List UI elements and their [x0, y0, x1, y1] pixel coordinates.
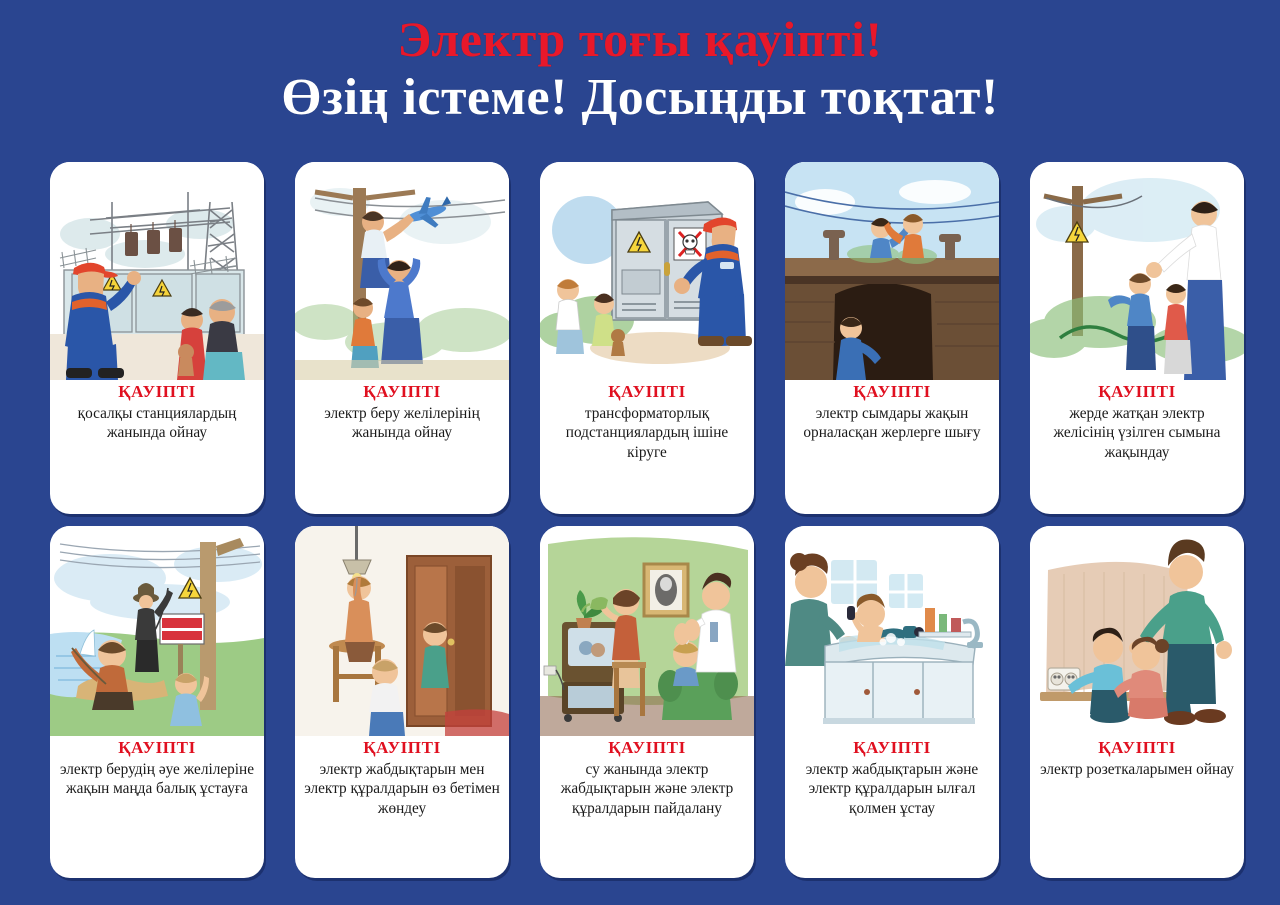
danger-card-fishing-near-lines: ҚАУІПТІ электр берудің әуе желілеріне жа…: [50, 526, 264, 878]
danger-card-grid: ҚАУІПТІ қосалқы станциялардың жанында ой…: [50, 162, 1240, 878]
danger-label: ҚАУІПТІ: [1038, 382, 1236, 402]
poster-title-sub: Өзің істеме! Досыңды тоқтат!: [0, 71, 1280, 124]
card-text: ҚАУІПТІ электр сымдары жақын орналасқан …: [785, 380, 999, 514]
illustration-wet-hands-appliances: [785, 526, 999, 736]
danger-label: ҚАУІПТІ: [303, 382, 501, 402]
illustration-self-repair-equipment: [295, 526, 509, 736]
card-text: ҚАУІПТІ электр берудің әуе желілеріне жа…: [50, 736, 264, 878]
danger-label: ҚАУІПТІ: [58, 738, 256, 758]
safety-poster: Электр тоғы қауіпті! Өзің істеме! Досыңд…: [0, 0, 1280, 905]
danger-label: ҚАУІПТІ: [548, 738, 746, 758]
danger-card-transformer-entry: ҚАУІПТІ трансформаторлық подстанцияларды…: [540, 162, 754, 514]
illustration-power-line-play: [295, 162, 509, 380]
danger-description: трансформаторлық подстанциялардың ішіне …: [548, 404, 746, 462]
danger-description: электр розеткаларымен ойнау: [1038, 760, 1236, 779]
card-text: ҚАУІПТІ электр жабдықтарын және электр қ…: [785, 736, 999, 878]
danger-card-self-repair-equipment: ҚАУІПТІ электр жабдықтарын мен электр құ…: [295, 526, 509, 878]
illustration-socket-play: [1030, 526, 1244, 736]
danger-label: ҚАУІПТІ: [793, 382, 991, 402]
danger-label: ҚАУІПТІ: [1038, 738, 1236, 758]
danger-description: электр жабдықтарын және электр құралдары…: [793, 760, 991, 818]
danger-label: ҚАУІПТІ: [548, 382, 746, 402]
danger-card-wet-hands-appliances: ҚАУІПТІ электр жабдықтарын және электр қ…: [785, 526, 999, 878]
danger-description: электр беру желілерінің жанында ойнау: [303, 404, 501, 443]
card-text: ҚАУІПТІ электр розеткаларымен ойнау: [1030, 736, 1244, 878]
danger-description: қосалқы станциялардың жанында ойнау: [58, 404, 256, 443]
card-text: ҚАУІПТІ электр беру желілерінің жанында …: [295, 380, 509, 514]
danger-card-appliances-near-water: ҚАУІПТІ су жанында электр жабдықтарын жә…: [540, 526, 754, 878]
danger-card-socket-play: ҚАУІПТІ электр розеткаларымен ойнау: [1030, 526, 1244, 878]
card-text: ҚАУІПТІ трансформаторлық подстанцияларды…: [540, 380, 754, 514]
danger-description: су жанында электр жабдықтарын және элект…: [548, 760, 746, 818]
danger-label: ҚАУІПТІ: [303, 738, 501, 758]
card-text: ҚАУІПТІ жерде жатқан электр желісінің үз…: [1030, 380, 1244, 514]
illustration-substation-play: [50, 162, 264, 380]
danger-label: ҚАУІПТІ: [793, 738, 991, 758]
illustration-fallen-wire-approach: [1030, 162, 1244, 380]
poster-heading: Электр тоғы қауіпті! Өзің істеме! Досыңд…: [0, 0, 1280, 124]
danger-description: электр сымдары жақын орналасқан жерлерге…: [793, 404, 991, 443]
illustration-appliances-near-water: [540, 526, 754, 736]
poster-title-main: Электр тоғы қауіпті!: [0, 14, 1280, 65]
danger-card-substation-play: ҚАУІПТІ қосалқы станциялардың жанында ой…: [50, 162, 264, 514]
card-text: ҚАУІПТІ су жанында электр жабдықтарын жә…: [540, 736, 754, 878]
danger-description: жерде жатқан электр желісінің үзілген сы…: [1038, 404, 1236, 462]
danger-card-rooftop-near-wires: ҚАУІПТІ электр сымдары жақын орналасқан …: [785, 162, 999, 514]
danger-description: электр жабдықтарын мен электр құралдарын…: [303, 760, 501, 818]
danger-description: электр берудің әуе желілеріне жақын маңд…: [58, 760, 256, 799]
card-text: ҚАУІПТІ қосалқы станциялардың жанында ой…: [50, 380, 264, 514]
illustration-transformer-entry: [540, 162, 754, 380]
danger-card-fallen-wire-approach: ҚАУІПТІ жерде жатқан электр желісінің үз…: [1030, 162, 1244, 514]
danger-label: ҚАУІПТІ: [58, 382, 256, 402]
illustration-fishing-near-lines: [50, 526, 264, 736]
danger-card-power-line-play: ҚАУІПТІ электр беру желілерінің жанында …: [295, 162, 509, 514]
illustration-rooftop-near-wires: [785, 162, 999, 380]
card-text: ҚАУІПТІ электр жабдықтарын мен электр құ…: [295, 736, 509, 878]
